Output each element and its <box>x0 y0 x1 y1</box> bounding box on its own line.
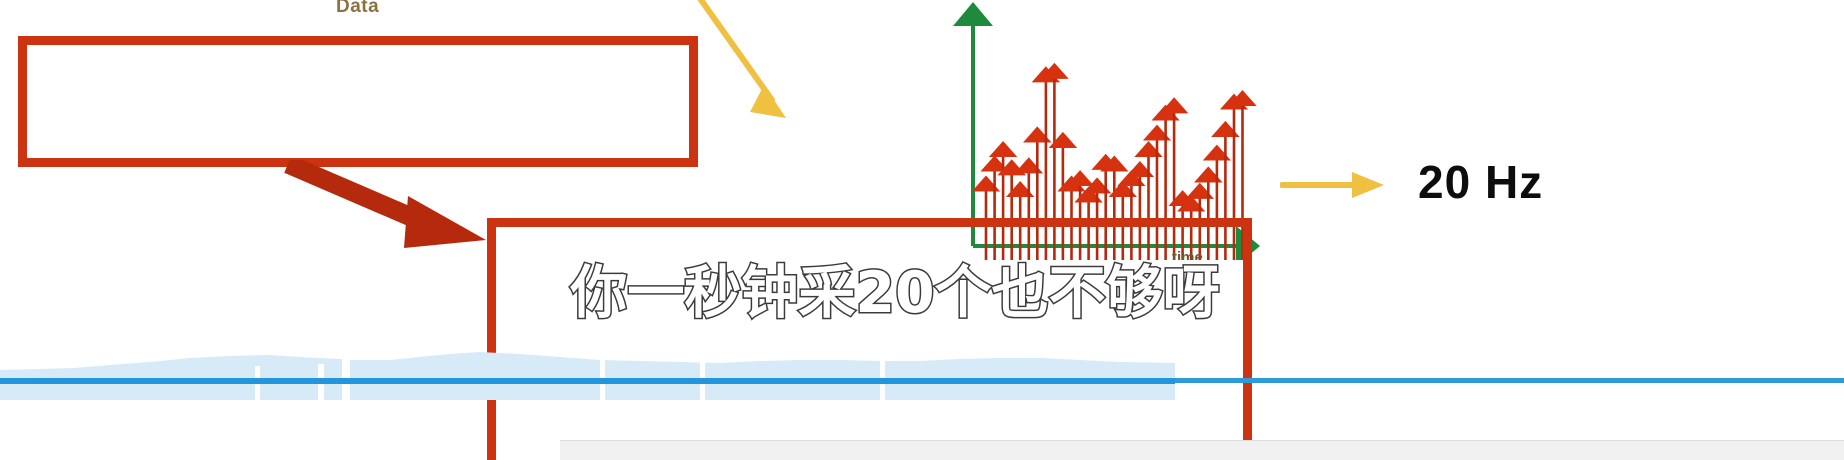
rate-arrow-icon <box>1280 160 1390 210</box>
dark-red-arrow <box>280 160 500 255</box>
slide-canvas: Data <box>0 0 1844 460</box>
audio-waveform-strip <box>0 352 1175 400</box>
yellow-diagonal-arrow <box>690 0 810 135</box>
audio-baseline-rule <box>0 378 1175 384</box>
caption-text: 你一秒钟采20个也不够呀 <box>545 258 1245 328</box>
rate-label: 20 Hz <box>1418 155 1543 209</box>
data-highlight-box <box>18 36 698 167</box>
audio-waveform-svg <box>0 352 1175 400</box>
dark-red-arrow-svg <box>280 160 500 255</box>
caption-highlight-box <box>487 218 1252 460</box>
rate-arrow-svg <box>1280 160 1390 210</box>
bottom-panel-edge <box>560 440 1844 460</box>
yellow-diagonal-arrow-svg <box>690 0 810 135</box>
data-panel-title: Data <box>336 0 456 18</box>
